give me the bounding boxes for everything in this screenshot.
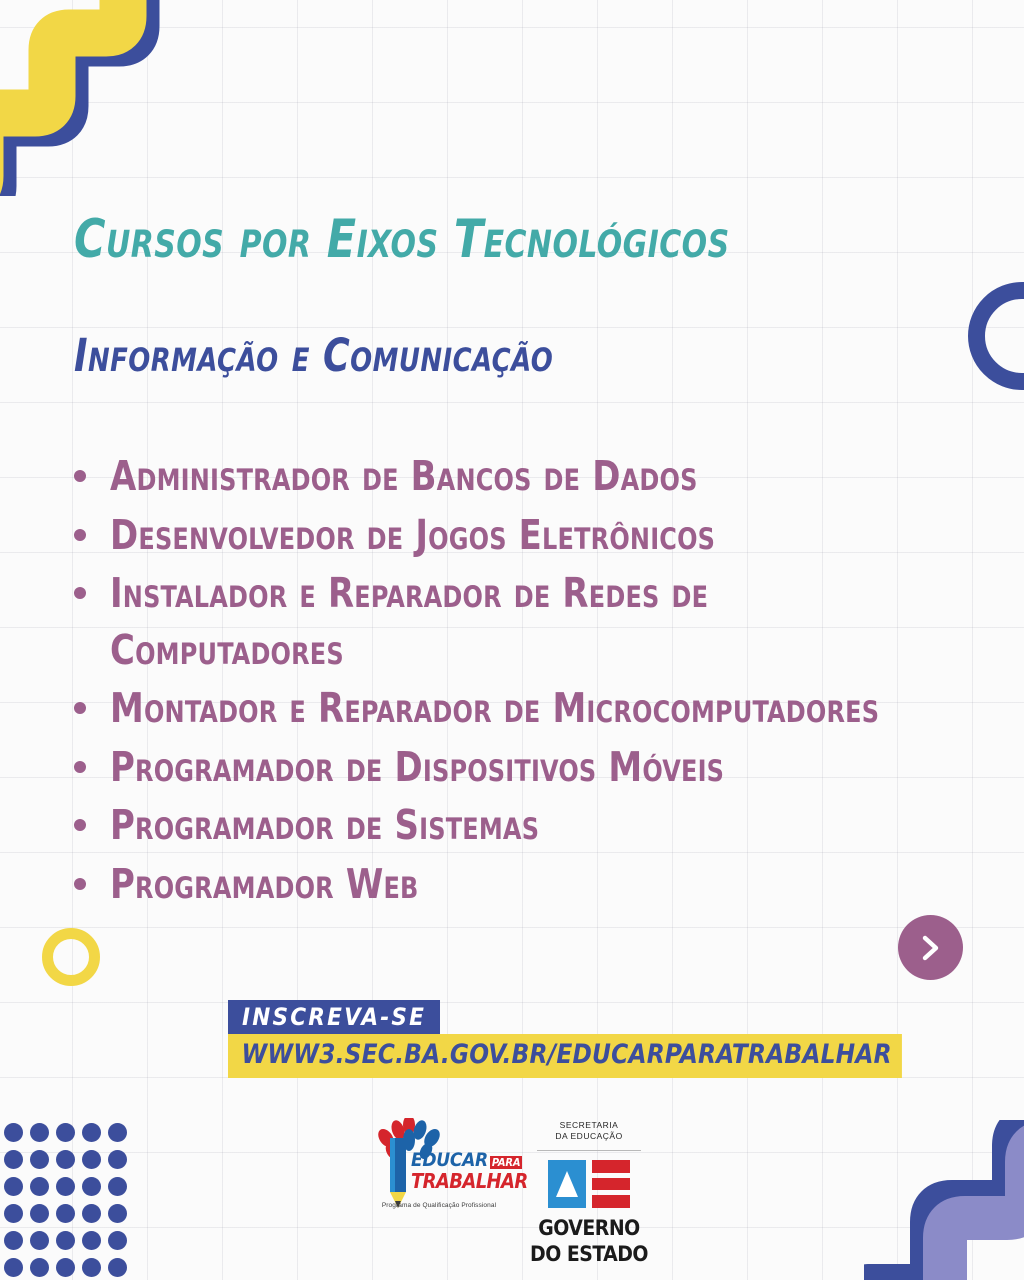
secretaria-line-2: DA EDUCAÇÃO <box>525 1131 653 1142</box>
governo-line-1: GOVERNO <box>525 1218 653 1239</box>
logo-educar-para-trabalhar: EDUCAR PARA TRABALHAR Programa de Qualif… <box>371 1118 503 1214</box>
course-name: Programador de Sistemas <box>110 797 539 854</box>
course-name: Desenvolvedor de Jogos Eletrônicos <box>110 507 715 564</box>
logo-governo-do-estado: SECRETARIA DA EDUCAÇÃO GOVERNO DO ESTADO <box>525 1118 653 1266</box>
list-item: Programador de Dispositivos Móveis <box>66 739 986 796</box>
course-name: Programador de Dispositivos Móveis <box>110 739 724 796</box>
chevron-right-icon <box>918 933 944 963</box>
list-item: Instalador e Reparador de Redes de Compu… <box>66 565 986 678</box>
footer-logos: EDUCAR PARA TRABALHAR Programa de Qualif… <box>0 1118 1024 1266</box>
list-item: Montador e Reparador de Microcomputadore… <box>66 680 986 737</box>
section-subtitle: Informação e Comunicação <box>74 332 553 379</box>
bullet-icon <box>66 448 110 482</box>
bahia-flag-icon <box>525 1160 653 1213</box>
cta-badge-label: INSCREVA-SE <box>228 1000 440 1036</box>
bullet-icon <box>66 739 110 773</box>
bullet-icon <box>66 856 110 890</box>
next-slide-button[interactable] <box>898 915 963 980</box>
poster-canvas: Cursos por Eixos Tecnológicos Informação… <box>0 0 1024 1280</box>
course-name: Montador e Reparador de Microcomputadore… <box>110 680 879 737</box>
page-title: Cursos por Eixos Tecnológicos <box>74 212 730 268</box>
course-name: Programador Web <box>110 856 419 913</box>
cta-url-link[interactable]: WWW3.SEC.BA.GOV.BR/EDUCARPARATRABALHAR <box>228 1034 902 1078</box>
bullet-icon <box>66 507 110 541</box>
course-name: Instalador e Reparador de Redes de Compu… <box>110 565 916 678</box>
bullet-icon <box>66 680 110 714</box>
logo-word-educar: EDUCAR <box>411 1151 488 1170</box>
logo-educar-wordmark: EDUCAR PARA TRABALHAR <box>411 1151 503 1191</box>
list-item: Desenvolvedor de Jogos Eletrônicos <box>66 507 986 564</box>
list-item: Programador Web <box>66 856 986 913</box>
list-item: Programador de Sistemas <box>66 797 986 854</box>
bullet-icon <box>66 797 110 831</box>
logo-educar-tagline: Programa de Qualificação Profissional <box>373 1202 505 1209</box>
divider <box>537 1150 641 1151</box>
secretaria-line-1: SECRETARIA <box>525 1120 653 1131</box>
course-name: Administrador de Bancos de Dados <box>110 448 698 505</box>
course-list: Administrador de Bancos de Dados Desenvo… <box>66 448 986 915</box>
bullet-icon <box>66 565 110 599</box>
list-item: Administrador de Bancos de Dados <box>66 448 986 505</box>
call-to-action: INSCREVA-SE WWW3.SEC.BA.GOV.BR/EDUCARPAR… <box>228 1000 930 1078</box>
logo-word-trabalhar: TRABALHAR <box>411 1171 503 1191</box>
governo-line-2: DO ESTADO <box>525 1244 653 1265</box>
logo-word-para: PARA <box>490 1156 522 1169</box>
